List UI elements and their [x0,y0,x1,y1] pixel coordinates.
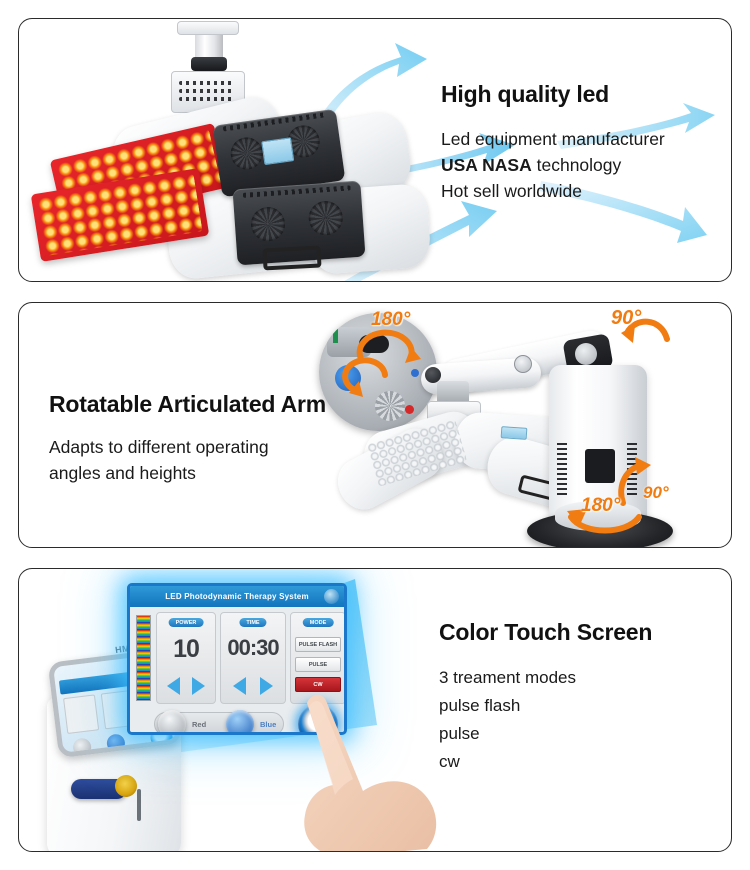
time-caption: TIME [239,618,266,627]
blue-light-button[interactable] [226,710,254,735]
mount-collar [191,57,227,71]
panel-3-body-line-4: cw [439,748,652,776]
callout-180-base: 180° [581,495,620,517]
power-caption: POWER [169,618,204,627]
blue-light-label: Blue [260,720,276,729]
nasa-emphasis: USA NASA [441,155,532,175]
feature-panel-rotatable-arm: 180° 90° [18,302,732,548]
feature-panel-color-touch-screen: HM320 LED Photodynamic Therapy System PO… [18,568,732,852]
panel-2-body-line-2: angles and heights [49,460,326,486]
key-stem [137,789,141,821]
arm-pivot-screw [514,355,532,373]
panel-3-body-line-1: 3 treament modes [439,664,652,692]
time-value: 00:30 [221,635,285,661]
panel-2-heading: Rotatable Articulated Arm [49,391,326,418]
panel-2-body-line-1: Adapts to different operating [49,434,326,460]
cooling-fan-3 [250,206,286,242]
red-light-label: Red [192,720,206,729]
panel-1-body-line-3: Hot sell worldwide [441,178,665,204]
settings-icon[interactable] [324,589,339,604]
power-decrease-icon[interactable] [167,677,180,695]
mode-button-pulse-flash[interactable]: PULSE FLASH [295,637,341,652]
callout-90-top: 90° [611,307,641,330]
panel-1-text-block: High quality led Led equipment manufactu… [441,81,665,204]
mount-vent-1 [179,81,235,85]
time-increase-icon[interactable] [260,677,273,695]
panel-3-body-line-3: pulse [439,720,652,748]
inset-rotation-arrow-2 [337,355,393,404]
mode-button-pulse[interactable]: PULSE [295,657,341,672]
panel-2-text-block: Rotatable Articulated Arm Adapts to diff… [49,391,326,486]
cooling-fan-4 [308,200,344,236]
panel-3-text-block: Color Touch Screen 3 treament modes puls… [439,619,652,776]
panel-1-body-line-2-rest: technology [532,155,622,175]
red-light-button[interactable] [158,710,186,735]
callout-90-base: 90° [643,483,669,503]
spectrum-bar [136,615,151,701]
power-card[interactable]: POWER 10 [156,612,216,704]
key-switch-core [115,775,137,797]
mount-top-plate [177,21,239,35]
power-value: 10 [157,635,215,664]
cooling-fan-1 [229,135,265,171]
head-spec-label [501,426,528,440]
feature-panel-high-quality-led: High quality led Led equipment manufactu… [18,18,732,282]
panel-3-body-line-2: pulse flash [439,692,652,720]
callout-180-inset: 180° [371,309,410,331]
mode-caption: MODE [303,618,334,627]
mount-vent-2 [179,89,235,93]
time-decrease-icon[interactable] [233,677,246,695]
arm-joint-cap [575,343,597,365]
screen-title: LED Photodynamic Therapy System [130,586,344,607]
mount-vent-3 [179,97,235,101]
column-vent-left [557,443,567,497]
panel-1-heading: High quality led [441,81,665,108]
spec-label [261,137,294,165]
carry-handle [262,245,321,270]
product-feature-page: High quality led Led equipment manufactu… [0,0,750,870]
panel-1-body-line-2: USA NASA technology [441,152,665,178]
power-increase-icon[interactable] [192,677,205,695]
panel-3-heading: Color Touch Screen [439,619,652,646]
panel-1-body-line-1: Led equipment manufacturer [441,126,665,152]
fan-plate-vent-bottom [243,185,351,198]
